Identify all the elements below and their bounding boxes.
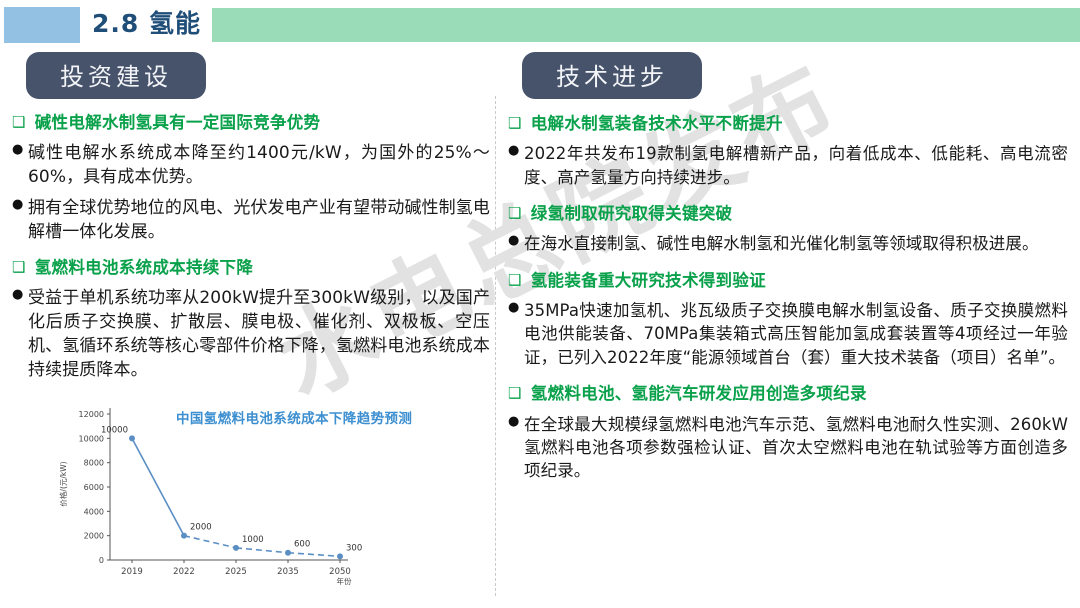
chart-point-label: 600 (294, 540, 310, 550)
list-item-text: 在全球最大规模绿氢燃料电池汽车示范、氢燃料电池耐久性实测、260kW氢燃料电池各… (524, 413, 1068, 483)
chart-point-label: 300 (346, 543, 362, 553)
x-axis-ticks: 20192022202520352050 (121, 560, 351, 577)
chart-data-point (233, 545, 239, 551)
column-divider (495, 96, 496, 596)
section-heading-label: 绿氢制取研究取得关键突破 (531, 203, 1068, 225)
right-column-badge: 技术进步 (522, 52, 702, 99)
list-item: ● 35MPa快速加氢机、兆瓦级质子交换膜电解水制氢设备、质子交换膜燃料电池供能… (508, 299, 1068, 369)
section-heading: ❑ 电解水制氢装备技术水平不断提升 (508, 113, 1068, 135)
section-heading-label: 氢能装备重大研究技术得到验证 (531, 270, 1068, 292)
chart-title: 中国氢燃料电池系统成本下降趋势预测 (176, 407, 412, 427)
square-bullet-icon: ❑ (508, 203, 522, 223)
right-section-4: ❑ 氢燃料电池、氢能汽车研发应用创造多项纪录 ● 在全球最大规模绿氢燃料电池汽车… (508, 383, 1068, 483)
left-section-2: ❑ 氢燃料电池系统成本持续下降 ● 受益于单机系统功率从200kW提升至300k… (12, 257, 490, 383)
list-item-text: 35MPa快速加氢机、兆瓦级质子交换膜电解水制氢设备、质子交换膜燃料电池供能装备… (524, 299, 1068, 369)
list-item-text: 碱性电解水系统成本降至约1400元/kW，为国外的25%～60%，具有成本优势。 (28, 141, 490, 189)
list-item: ● 碱性电解水系统成本降至约1400元/kW，为国外的25%～60%，具有成本优… (12, 141, 490, 189)
round-bullet-icon: ● (508, 232, 524, 250)
chart-data-point (337, 553, 343, 559)
x-tick-label: 2035 (277, 567, 299, 577)
list-item-text: 在海水直接制氢、碱性电解水制氢和光催化制氢等领域取得积极进展。 (524, 232, 1068, 255)
chart-svg: 020004000600080001000012000 201920222025… (48, 398, 468, 598)
y-tick-label: 8000 (84, 459, 104, 468)
square-bullet-icon: ❑ (508, 270, 522, 290)
list-item-text: 2022年共发布19款制氢电解槽新产品，向着低成本、低能耗、高电流密度、高产氢量… (524, 142, 1068, 189)
list-item: ● 在全球最大规模绿氢燃料电池汽车示范、氢燃料电池耐久性实测、260kW氢燃料电… (508, 413, 1068, 483)
left-column: 投资建设 ❑ 碱性电解水制氢具有一定国际竞争优势 ● 碱性电解水系统成本降至约1… (12, 52, 490, 387)
left-section-1: ❑ 碱性电解水制氢具有一定国际竞争优势 ● 碱性电解水系统成本降至约1400元/… (12, 112, 490, 244)
chart-line-segment (132, 438, 184, 535)
round-bullet-icon: ● (508, 142, 524, 160)
x-axis-label: 年份 (337, 576, 352, 586)
section-heading: ❑ 氢燃料电池系统成本持续下降 (12, 257, 490, 279)
list-item: ● 2022年共发布19款制氢电解槽新产品，向着低成本、低能耗、高电流密度、高产… (508, 142, 1068, 189)
chart-line-segment (184, 536, 236, 548)
chart-data-point (181, 533, 187, 539)
chart-data-point (285, 550, 291, 556)
y-tick-label: 12000 (79, 410, 104, 419)
list-item: ● 受益于单机系统功率从200kW提升至300kW级别，以及国产化后质子交换膜、… (12, 286, 490, 383)
page-title: 2.8 氢能 (92, 6, 201, 42)
section-heading-label: 氢燃料电池系统成本持续下降 (35, 257, 490, 279)
chart-point-labels: 1000020001000600300 (101, 425, 362, 553)
section-heading: ❑ 氢能装备重大研究技术得到验证 (508, 270, 1068, 292)
section-heading-label: 碱性电解水制氢具有一定国际竞争优势 (35, 112, 490, 134)
chart-point-label: 1000 (242, 535, 264, 545)
chart-line-segment (288, 553, 340, 557)
section-heading: ❑ 绿氢制取研究取得关键突破 (508, 203, 1068, 225)
list-item: ● 在海水直接制氢、碱性电解水制氢和光催化制氢等领域取得积极进展。 (508, 232, 1068, 255)
right-section-2: ❑ 绿氢制取研究取得关键突破 ● 在海水直接制氢、碱性电解水制氢和光催化制氢等领… (508, 203, 1068, 256)
chart-data-point (129, 435, 135, 441)
cost-trend-chart: 中国氢燃料电池系统成本下降趋势预测 0200040006000800010000… (48, 398, 468, 598)
left-column-badge: 投资建设 (26, 52, 206, 99)
chart-point-label: 2000 (190, 523, 212, 533)
y-tick-label: 2000 (84, 532, 104, 541)
round-bullet-icon: ● (508, 413, 524, 431)
square-bullet-icon: ❑ (12, 112, 26, 132)
right-column: 技术进步 ❑ 电解水制氢装备技术水平不断提升 ● 2022年共发布19款制氢电解… (508, 52, 1068, 487)
y-tick-label: 0 (99, 556, 104, 565)
header-color-swatch (4, 7, 80, 43)
right-section-1: ❑ 电解水制氢装备技术水平不断提升 ● 2022年共发布19款制氢电解槽新产品，… (508, 113, 1068, 189)
slide-header: 2.8 氢能 (0, 7, 1080, 43)
x-tick-label: 2022 (173, 567, 195, 577)
list-item-text: 受益于单机系统功率从200kW提升至300kW级别，以及国产化后质子交换膜、扩散… (28, 286, 490, 383)
chart-point-label: 10000 (101, 425, 128, 435)
round-bullet-icon: ● (12, 141, 28, 159)
list-item: ● 拥有全球优势地位的风电、光伏发电产业有望带动碱性制氢电解槽一体化发展。 (12, 196, 490, 244)
list-item-text: 拥有全球优势地位的风电、光伏发电产业有望带动碱性制氢电解槽一体化发展。 (28, 196, 490, 244)
y-tick-label: 10000 (79, 434, 104, 443)
x-tick-label: 2025 (225, 567, 247, 577)
section-heading-label: 氢燃料电池、氢能汽车研发应用创造多项纪录 (531, 383, 1068, 405)
square-bullet-icon: ❑ (508, 383, 522, 403)
square-bullet-icon: ❑ (12, 257, 26, 277)
slide-root: 水电总院发布 2.8 氢能 投资建设 ❑ 碱性电解水制氢具有一定国际竞争优势 ●… (0, 0, 1080, 608)
y-axis-label: 价格/(元/kW) (58, 461, 68, 506)
section-heading-label: 电解水制氢装备技术水平不断提升 (531, 113, 1068, 135)
chart-series (129, 435, 343, 559)
y-tick-label: 6000 (84, 483, 104, 492)
round-bullet-icon: ● (12, 286, 28, 304)
round-bullet-icon: ● (12, 196, 28, 214)
chart-line-segment (236, 548, 288, 553)
section-heading: ❑ 碱性电解水制氢具有一定国际竞争优势 (12, 112, 490, 134)
section-heading: ❑ 氢燃料电池、氢能汽车研发应用创造多项纪录 (508, 383, 1068, 405)
y-tick-label: 4000 (84, 507, 104, 516)
x-tick-label: 2019 (121, 567, 143, 577)
square-bullet-icon: ❑ (508, 113, 522, 133)
right-section-3: ❑ 氢能装备重大研究技术得到验证 ● 35MPa快速加氢机、兆瓦级质子交换膜电解… (508, 270, 1068, 370)
x-tick-label: 2050 (329, 567, 351, 577)
round-bullet-icon: ● (508, 299, 524, 317)
header-green-bar (212, 8, 1080, 42)
